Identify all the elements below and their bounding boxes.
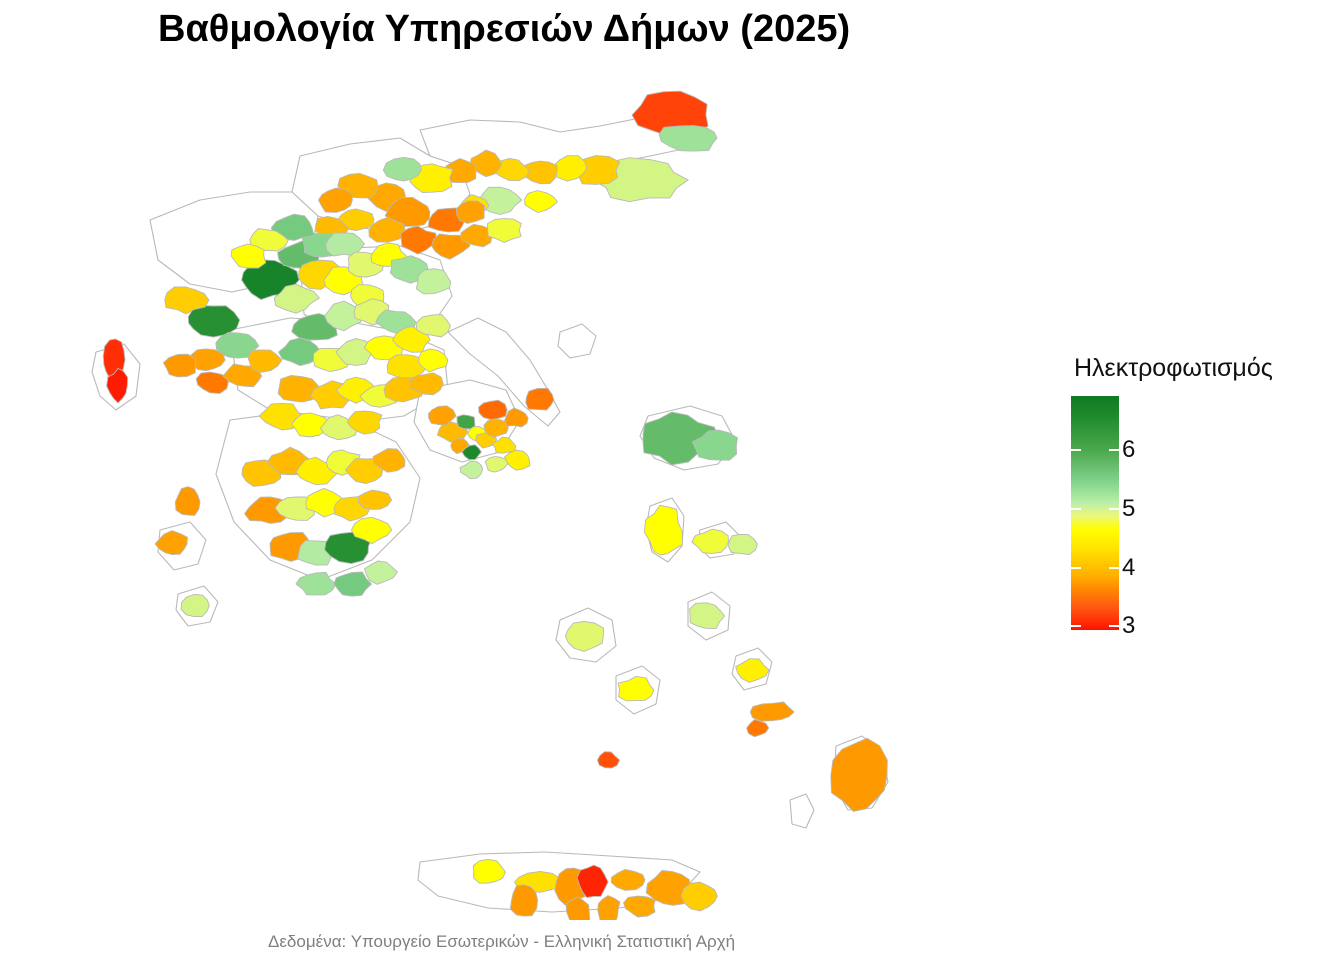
map-region-municipality[interactable] (526, 388, 554, 410)
page-title: Βαθμολογία Υπηρεσιών Δήμων (2025) (158, 8, 850, 51)
legend-tick-mark (1109, 449, 1119, 451)
map-region-municipality[interactable] (456, 201, 484, 224)
map-panel (0, 60, 1040, 920)
legend-tick-mark (1109, 567, 1119, 569)
map-region-municipality[interactable] (457, 415, 475, 429)
legend-tick-mark (1109, 508, 1119, 510)
legend: Ηλεκτροφωτισμός 6543 (1060, 350, 1330, 650)
figure-caption: Δεδομένα: Υπουργείο Εσωτερικών - Ελληνικ… (268, 932, 735, 952)
legend-tick-label: 3 (1122, 612, 1135, 640)
legend-tick-mark (1071, 567, 1081, 569)
map-figure: Βαθμολογία Υπηρεσιών Δήμων (2025) Ηλεκτρ… (0, 0, 1344, 960)
legend-tick-label: 4 (1122, 554, 1135, 582)
legend-gradient (1071, 396, 1119, 630)
map-region-municipality[interactable] (479, 400, 508, 419)
map-region-municipality[interactable] (181, 595, 209, 617)
legend-tick-mark (1109, 625, 1119, 627)
legend-tick-mark (1071, 625, 1081, 627)
greece-choropleth-map[interactable] (0, 60, 1040, 920)
legend-title: Ηλεκτροφωτισμός (1074, 354, 1273, 383)
legend-tick-mark (1071, 449, 1081, 451)
legend-tick-label: 5 (1122, 495, 1135, 523)
legend-tick-mark (1071, 508, 1081, 510)
legend-colorbar (1071, 396, 1119, 630)
legend-tick-label: 6 (1122, 436, 1135, 464)
map-region-municipality[interactable] (510, 885, 537, 916)
